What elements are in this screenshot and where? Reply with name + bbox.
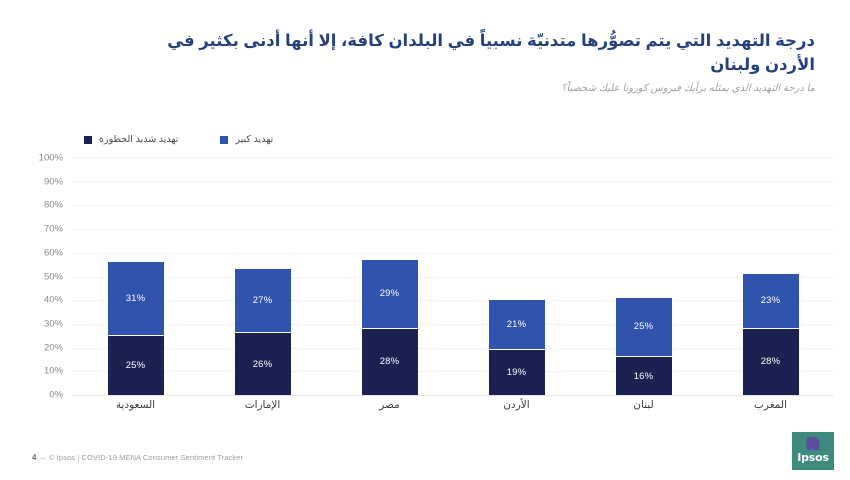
bar-slot: 29%28% <box>326 158 453 395</box>
y-axis-tick-label: 60% <box>44 247 63 258</box>
bar-value-label: 26% <box>253 359 273 370</box>
x-axis-category-label: الإمارات <box>199 399 326 411</box>
bar-segment[interactable]: 27% <box>235 269 291 333</box>
bar-value-label: 23% <box>761 295 781 306</box>
bar-segment[interactable]: 19% <box>489 350 545 395</box>
y-axis-tick-label: 10% <box>44 366 63 377</box>
bar-segment[interactable]: 29% <box>362 260 418 329</box>
bar-value-label: 28% <box>380 356 400 367</box>
bar-segment[interactable]: 25% <box>616 298 672 357</box>
bar-stack[interactable]: 23%28% <box>743 274 799 395</box>
bar-value-label: 29% <box>380 288 400 299</box>
footer-text: © Ipsos | COVID-19 MENA Consumer Sentime… <box>49 453 243 462</box>
y-axis-tick-label: 20% <box>44 342 63 353</box>
legend-swatch-icon <box>220 136 228 144</box>
slide: درجة التهديد التي يتم تصوُّرها متدنيّة ن… <box>0 0 850 480</box>
y-axis-tick-label: 80% <box>44 200 63 211</box>
y-axis-tick-label: 70% <box>44 224 63 235</box>
ipsos-logo: Ipsos <box>792 432 834 470</box>
bar-segment[interactable]: 16% <box>616 357 672 395</box>
chart-plot-area: 100%90%80%70%60%50%40%30%20%10%0% 31%25%… <box>72 158 834 395</box>
bar-slot: 23%28% <box>707 158 834 395</box>
footer: 4 – © Ipsos | COVID-19 MENA Consumer Sen… <box>32 453 243 462</box>
bar-value-label: 25% <box>634 321 654 332</box>
y-axis-tick-label: 90% <box>44 176 63 187</box>
bar-stack[interactable]: 25%16% <box>616 298 672 395</box>
y-axis-tick-label: 100% <box>39 153 63 164</box>
logo-mark-icon <box>807 437 820 450</box>
x-axis-category-label: مصر <box>326 399 453 411</box>
y-axis-tick-label: 0% <box>49 390 63 401</box>
x-axis-labels: السعوديةالإماراتمصرالأردنلبنانالمغرب <box>72 399 834 411</box>
legend-swatch-icon <box>84 136 92 144</box>
logo-text: Ipsos <box>797 451 829 464</box>
bar-segment[interactable]: 25% <box>108 336 164 395</box>
bar-stack[interactable]: 31%25% <box>108 262 164 395</box>
bar-segment[interactable]: 21% <box>489 300 545 350</box>
legend-label: تهديد كبير <box>235 134 273 145</box>
bar-stack[interactable]: 29%28% <box>362 260 418 395</box>
bar-slot: 21%19% <box>453 158 580 395</box>
bar-segment[interactable]: 28% <box>743 329 799 395</box>
page-title: درجة التهديد التي يتم تصوُّرها متدنيّة ن… <box>150 30 815 78</box>
x-axis-category-label: الأردن <box>453 399 580 411</box>
footer-page-number: 4 <box>32 453 37 462</box>
bar-value-label: 31% <box>126 293 146 304</box>
legend-item[interactable]: تهديد كبير <box>220 134 273 145</box>
bar-segment[interactable]: 26% <box>235 333 291 395</box>
x-axis-category-label: السعودية <box>72 399 199 411</box>
bar-stack[interactable]: 21%19% <box>489 300 545 395</box>
x-axis-category-label: لبنان <box>580 399 707 411</box>
legend-label: تهديد شديد الخطورة <box>99 134 178 145</box>
bar-stack[interactable]: 27%26% <box>235 269 291 395</box>
bar-group: 31%25%27%26%29%28%21%19%25%16%23%28% <box>72 158 834 395</box>
bar-value-label: 27% <box>253 295 273 306</box>
bar-segment[interactable]: 23% <box>743 274 799 329</box>
page-subtitle: ما درجة التهديد الذي يمثله برأيك فيروس ك… <box>150 82 815 96</box>
x-axis-category-label: المغرب <box>707 399 834 411</box>
bar-value-label: 16% <box>634 371 654 382</box>
footer-separator: – <box>41 453 45 462</box>
bar-segment[interactable]: 31% <box>108 262 164 335</box>
chart-legend: تهديد شديد الخطورةتهديد كبير <box>84 134 273 145</box>
bar-value-label: 28% <box>761 356 781 367</box>
y-axis-tick-label: 50% <box>44 271 63 282</box>
y-axis-tick-label: 40% <box>44 295 63 306</box>
bar-segment[interactable]: 28% <box>362 329 418 395</box>
bar-value-label: 19% <box>507 367 527 378</box>
bar-slot: 27%26% <box>199 158 326 395</box>
bar-slot: 25%16% <box>580 158 707 395</box>
bar-value-label: 21% <box>507 319 527 330</box>
bar-slot: 31%25% <box>72 158 199 395</box>
bar-value-label: 25% <box>126 360 146 371</box>
y-axis-tick-label: 30% <box>44 318 63 329</box>
legend-item[interactable]: تهديد شديد الخطورة <box>84 134 178 145</box>
gridline <box>72 395 834 396</box>
